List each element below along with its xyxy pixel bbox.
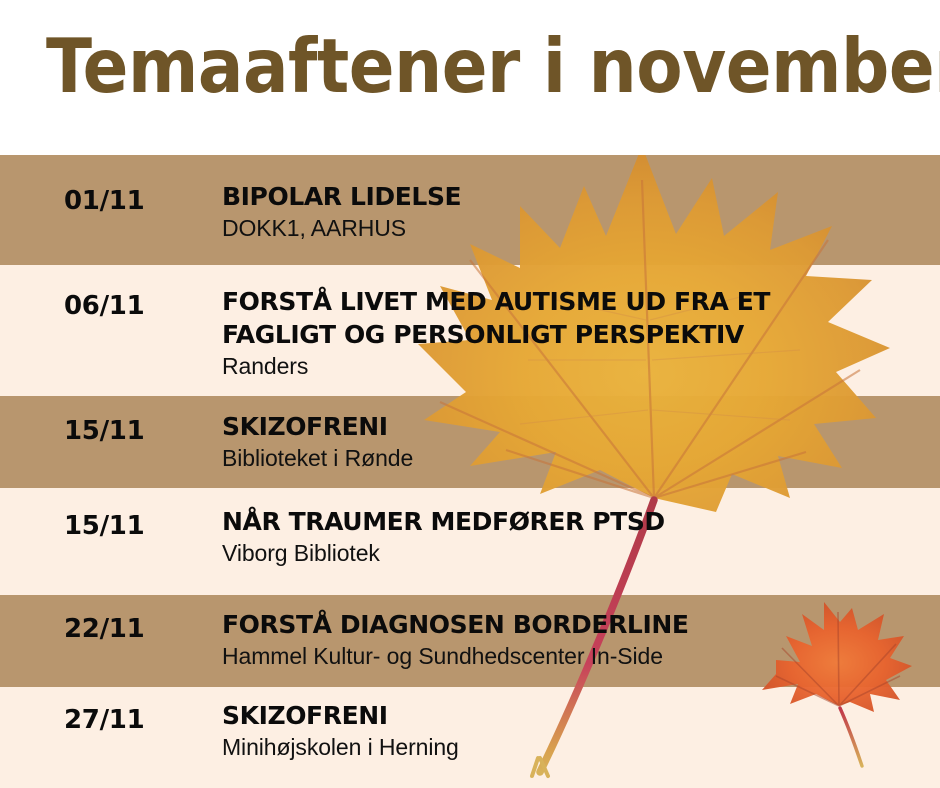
poster: 01/11 BIPOLAR LIDELSE DOKK1, AARHUS 06/1… bbox=[0, 0, 940, 788]
event-date: 01/11 bbox=[64, 186, 144, 216]
event-title: SKIZOFRENI bbox=[222, 699, 930, 732]
page-title: Temaaftener i november bbox=[46, 23, 940, 109]
event-title: FORSTÅ DIAGNOSEN BORDERLINE bbox=[222, 608, 930, 641]
event-title: FORSTÅ LIVET MED AUTISME UD FRA ET FAGLI… bbox=[222, 285, 822, 351]
event-row: 06/11 FORSTÅ LIVET MED AUTISME UD FRA ET… bbox=[0, 265, 940, 396]
event-date: 27/11 bbox=[64, 705, 144, 735]
event-date: 06/11 bbox=[64, 291, 144, 321]
event-row: 01/11 BIPOLAR LIDELSE DOKK1, AARHUS bbox=[0, 155, 940, 265]
event-body: NÅR TRAUMER MEDFØRER PTSD Viborg Bibliot… bbox=[222, 505, 930, 568]
event-body: FORSTÅ DIAGNOSEN BORDERLINE Hammel Kultu… bbox=[222, 608, 930, 671]
event-title: SKIZOFRENI bbox=[222, 410, 930, 443]
event-date: 15/11 bbox=[64, 511, 144, 541]
event-body: FORSTÅ LIVET MED AUTISME UD FRA ET FAGLI… bbox=[222, 285, 930, 381]
event-body: SKIZOFRENI Minihøjskolen i Herning bbox=[222, 699, 930, 762]
event-venue: Randers bbox=[222, 351, 930, 381]
event-row: 22/11 FORSTÅ DIAGNOSEN BORDERLINE Hammel… bbox=[0, 595, 940, 687]
event-title: BIPOLAR LIDELSE bbox=[222, 180, 930, 213]
poster-header: Temaaftener i november bbox=[0, 0, 940, 155]
event-venue: Biblioteket i Rønde bbox=[222, 443, 930, 473]
event-date: 15/11 bbox=[64, 416, 144, 446]
event-venue: Minihøjskolen i Herning bbox=[222, 732, 930, 762]
event-row: 15/11 NÅR TRAUMER MEDFØRER PTSD Viborg B… bbox=[0, 488, 940, 595]
event-row: 15/11 SKIZOFRENI Biblioteket i Rønde bbox=[0, 396, 940, 488]
event-venue: Hammel Kultur- og Sundhedscenter In-Side bbox=[222, 641, 930, 671]
event-title: NÅR TRAUMER MEDFØRER PTSD bbox=[222, 505, 930, 538]
event-venue: DOKK1, AARHUS bbox=[222, 213, 930, 243]
event-row: 27/11 SKIZOFRENI Minihøjskolen i Herning bbox=[0, 687, 940, 788]
event-venue: Viborg Bibliotek bbox=[222, 538, 930, 568]
event-body: SKIZOFRENI Biblioteket i Rønde bbox=[222, 410, 930, 473]
event-body: BIPOLAR LIDELSE DOKK1, AARHUS bbox=[222, 180, 930, 243]
event-date: 22/11 bbox=[64, 614, 144, 644]
